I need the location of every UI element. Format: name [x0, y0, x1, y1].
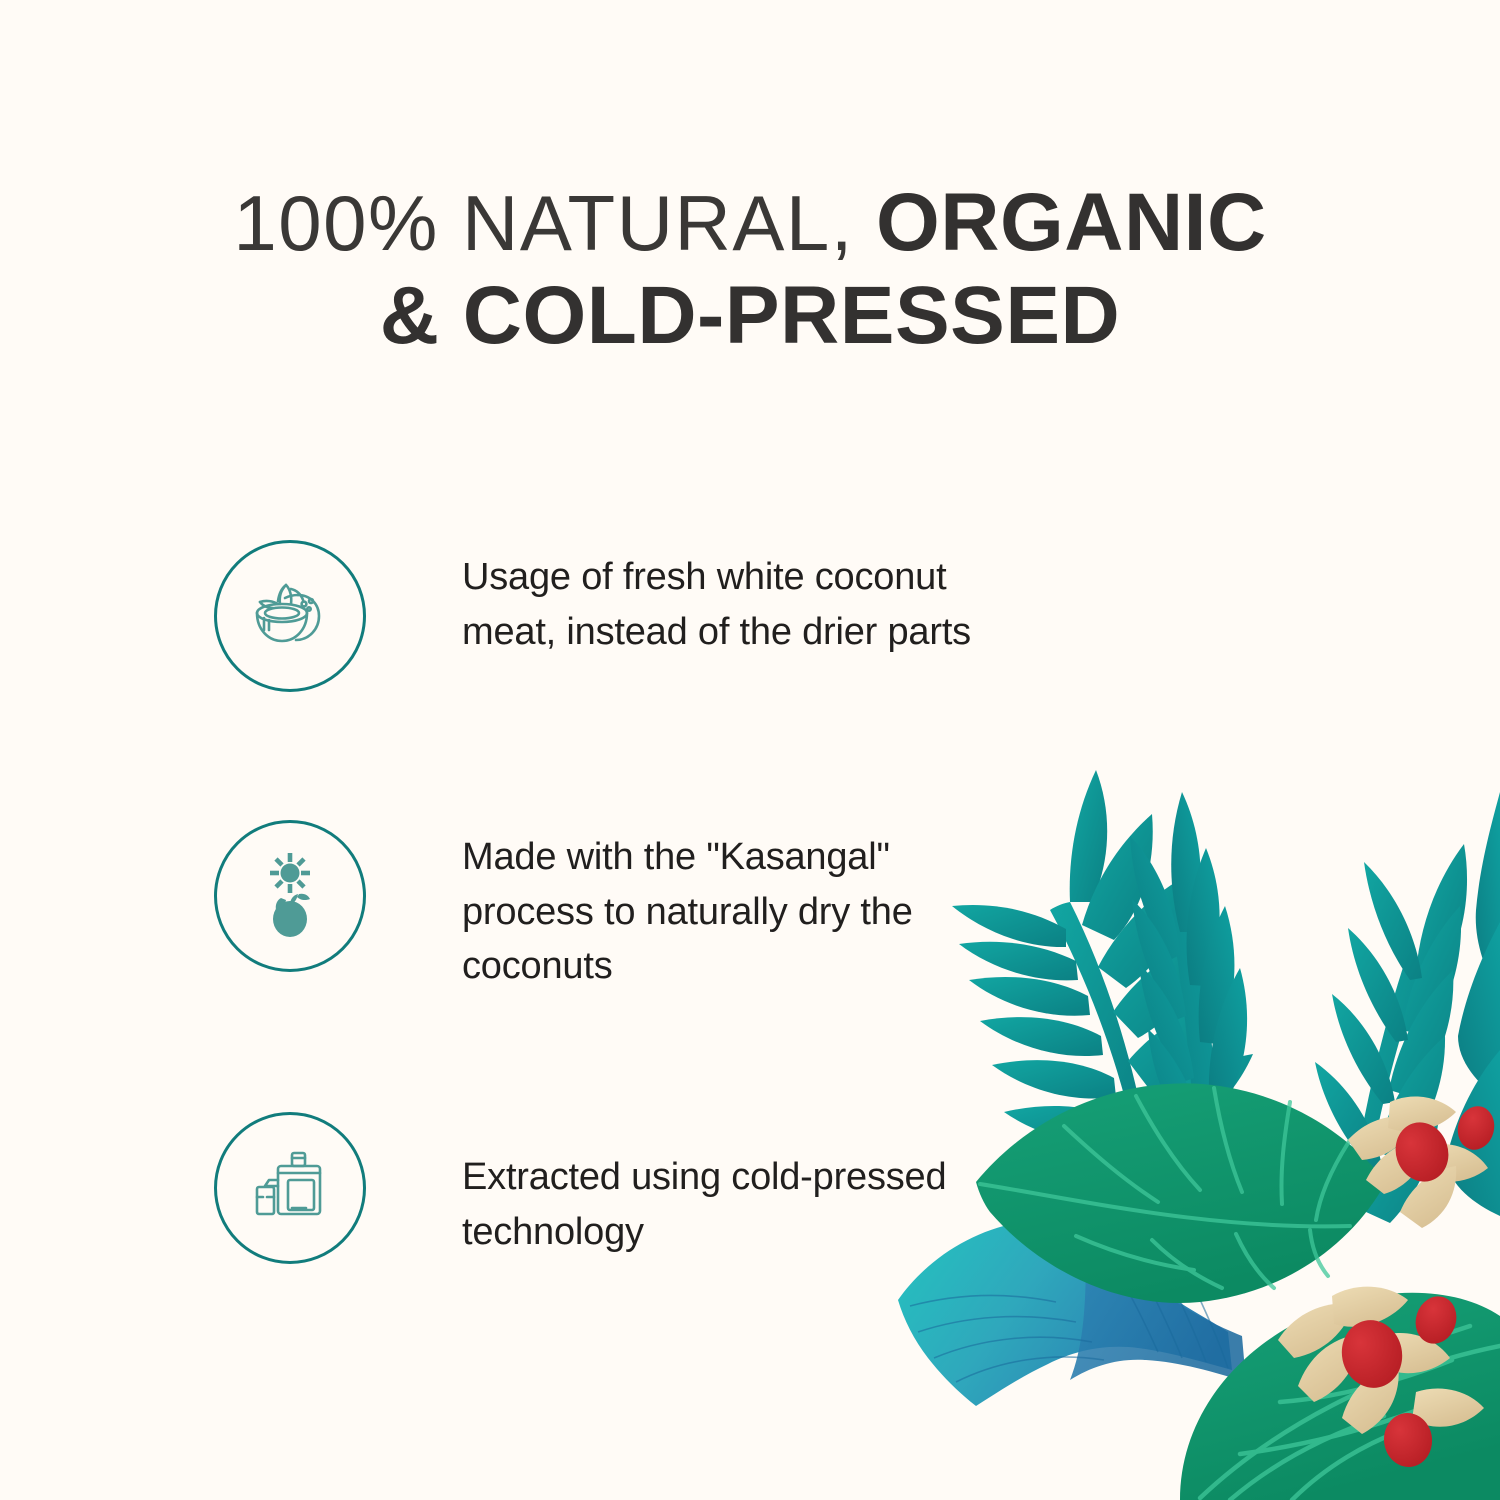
feature-item: Usage of fresh white coconut meat, inste… [214, 540, 974, 702]
flower-cluster-upper [1348, 1097, 1499, 1228]
headline-line-1: 100% NATURAL,ORGANIC [0, 176, 1500, 269]
cold-press-machine-icon [214, 1112, 366, 1264]
feature-item: Extracted using cold-pressed technology [214, 1112, 974, 1274]
palm-frond-b [1130, 792, 1247, 1160]
promo-graphic-page: 100% NATURAL,ORGANIC & COLD-PRESSED [0, 0, 1500, 1500]
flower-cluster-lower [1278, 1287, 1484, 1470]
sun-drying-coconut-icon [214, 820, 366, 972]
headline-light-part: 100% NATURAL, [233, 179, 854, 267]
palm-frond-d [1446, 792, 1500, 1216]
headline-line-2: & COLD-PRESSED [0, 269, 1500, 362]
green-leaf-lower [1180, 1293, 1500, 1500]
feature-label: Made with the "Kasangal" process to natu… [462, 820, 974, 994]
feature-label: Usage of fresh white coconut meat, inste… [462, 540, 974, 659]
feature-list: Usage of fresh white coconut meat, inste… [214, 540, 974, 1274]
feature-item: Made with the "Kasangal" process to natu… [214, 820, 974, 994]
green-leaf-upper [976, 1083, 1386, 1303]
palm-frond-c [1315, 844, 1467, 1223]
palm-frond-a [952, 770, 1253, 1143]
page-title: 100% NATURAL,ORGANIC & COLD-PRESSED [0, 176, 1500, 363]
feature-label: Extracted using cold-pressed technology [462, 1112, 974, 1259]
coconut-half-icon [214, 540, 366, 692]
headline-bold-part: ORGANIC [876, 177, 1267, 268]
